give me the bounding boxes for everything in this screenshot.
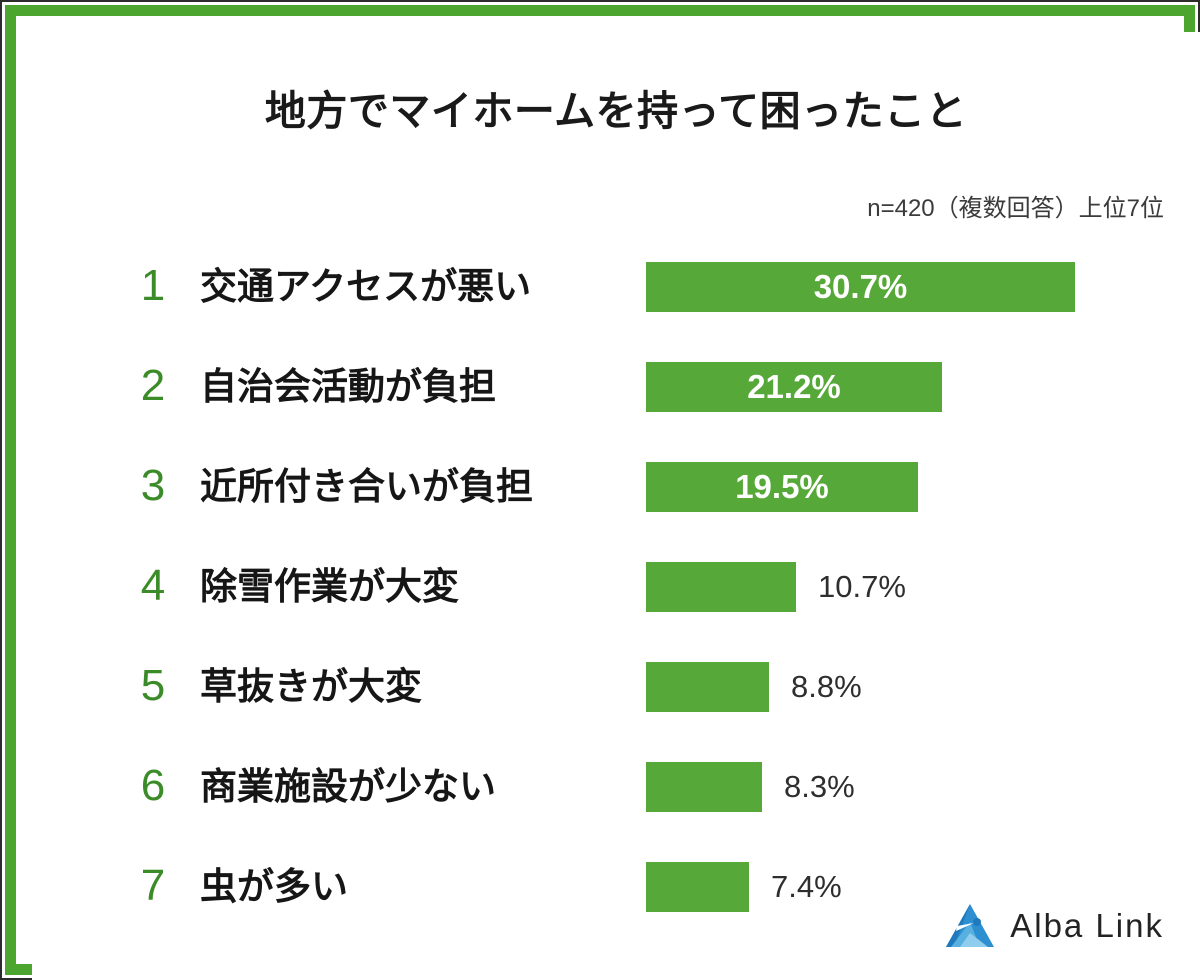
- bar-value-label: 21.2%: [646, 362, 942, 412]
- category-label: 除雪作業が大変: [200, 564, 459, 610]
- category-label: 草抜きが大変: [200, 664, 422, 710]
- bar-track: 8.3%: [646, 758, 1200, 816]
- bar: [646, 762, 762, 812]
- bar-rows: 1交通アクセスが悪い30.7%2自治会活動が負担21.2%3近所付き合いが負担1…: [32, 238, 1200, 938]
- bar-track: 10.7%: [646, 558, 1200, 616]
- green-frame-border: 地方でマイホームを持って困ったこと n=420（複数回答）上位7位 1交通アクセ…: [5, 5, 1195, 975]
- brand-name: Alba Link: [1010, 909, 1164, 943]
- rank-number: 6: [136, 762, 170, 810]
- rank-number: 3: [136, 462, 170, 510]
- chart-inner-area: 地方でマイホームを持って困ったこと n=420（複数回答）上位7位 1交通アクセ…: [32, 32, 1200, 980]
- chart-canvas: 地方でマイホームを持って困ったこと n=420（複数回答）上位7位 1交通アクセ…: [0, 0, 1200, 980]
- bar-track: 30.7%: [646, 258, 1200, 316]
- bar-value-label: 8.8%: [791, 662, 862, 712]
- rank-number: 2: [136, 362, 170, 410]
- bar-value-label: 30.7%: [646, 262, 1075, 312]
- rank-number: 7: [136, 862, 170, 910]
- category-label: 自治会活動が負担: [200, 364, 496, 410]
- alba-link-mountain-icon: [944, 902, 996, 950]
- bar-value-label: 8.3%: [784, 762, 855, 812]
- rank-number: 1: [136, 262, 170, 310]
- bar-track: 19.5%: [646, 458, 1200, 516]
- bar-row: 4除雪作業が大変10.7%: [32, 538, 1200, 638]
- bar: [646, 562, 796, 612]
- bar-row: 1交通アクセスが悪い30.7%: [32, 238, 1200, 338]
- bar-row: 2自治会活動が負担21.2%: [32, 338, 1200, 438]
- rank-number: 5: [136, 662, 170, 710]
- bar-track: 21.2%: [646, 358, 1200, 416]
- bar: [646, 662, 769, 712]
- sample-size-note: n=420（複数回答）上位7位: [867, 188, 1164, 223]
- bar: [646, 862, 749, 912]
- rank-number: 4: [136, 562, 170, 610]
- bar-row: 5草抜きが大変8.8%: [32, 638, 1200, 738]
- bar-value-label: 7.4%: [771, 862, 842, 912]
- bar-value-label: 19.5%: [646, 462, 918, 512]
- category-label: 近所付き合いが負担: [200, 464, 533, 510]
- category-label: 虫が多い: [200, 864, 348, 910]
- category-label: 商業施設が少ない: [200, 764, 496, 810]
- bar-value-label: 10.7%: [818, 562, 906, 612]
- bar-track: 8.8%: [646, 658, 1200, 716]
- brand-logo: Alba Link: [944, 902, 1164, 950]
- bar-row: 6商業施設が少ない8.3%: [32, 738, 1200, 838]
- category-label: 交通アクセスが悪い: [200, 264, 531, 310]
- bar-row: 3近所付き合いが負担19.5%: [32, 438, 1200, 538]
- chart-title: 地方でマイホームを持って困ったこと: [32, 77, 1200, 137]
